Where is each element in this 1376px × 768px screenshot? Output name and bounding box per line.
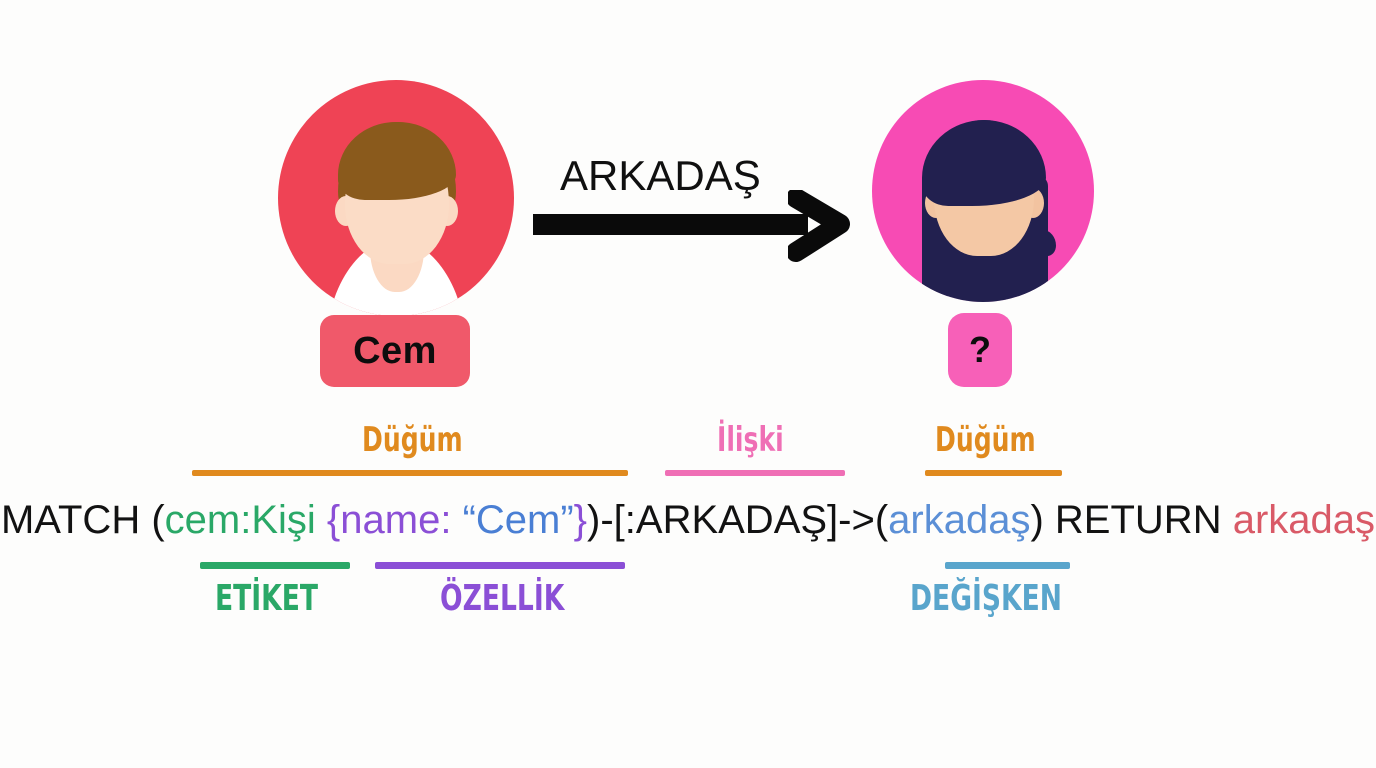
- query-part-match: MATCH (: [1, 498, 165, 542]
- annotation-underline-relationship: [665, 470, 845, 476]
- avatar-right-node: [872, 80, 1094, 302]
- query-part-variable: arkadaş: [888, 498, 1030, 542]
- avatar-left-illustration: [278, 80, 514, 316]
- relationship-arrow: [530, 190, 850, 250]
- diagram-canvas: Cem ? ARKADAŞ Düğüm İlişki Düğüm MATCH (…: [0, 0, 1376, 768]
- annotation-node-left: Düğüm: [362, 420, 463, 460]
- query-part-relationship: )-[:ARKADAŞ]->(: [587, 498, 888, 542]
- node-name-badge-cem: Cem: [320, 315, 470, 387]
- query-part-property-value: “Cem”: [463, 498, 574, 542]
- annotation-underline-node-right: [925, 470, 1062, 476]
- query-part-property-close: }: [574, 498, 587, 542]
- annotation-node-right: Düğüm: [935, 420, 1036, 460]
- query-part-label: cem:Kişi: [165, 498, 316, 542]
- node-name-badge-unknown: ?: [948, 313, 1012, 387]
- avatar-hair-front: [338, 122, 456, 200]
- annotation-underline-property: [375, 562, 625, 569]
- annotation-variable: DEĞİŞKEN: [910, 578, 1062, 619]
- annotation-relationship: İlişki: [717, 420, 784, 460]
- annotation-underline-node-left: [192, 470, 628, 476]
- annotation-underline-label: [200, 562, 350, 569]
- annotation-property: ÖZELLİK: [440, 578, 564, 619]
- query-part-return-keyword: ) RETURN: [1030, 498, 1232, 542]
- arrow-shaft: [533, 214, 808, 235]
- arrow-head-icon: [788, 190, 858, 262]
- cypher-query: MATCH (cem:Kişi {name: “Cem”})-[:ARKADAŞ…: [0, 498, 1376, 543]
- avatar-left-node: [278, 80, 514, 316]
- avatar-hair-flick: [1034, 230, 1056, 256]
- annotation-label: ETİKET: [215, 578, 318, 619]
- annotation-underline-variable: [945, 562, 1070, 569]
- query-part-space: [316, 498, 327, 542]
- avatar-hair-front: [922, 120, 1046, 206]
- query-part-return-variable: arkadaş: [1233, 498, 1375, 542]
- query-part-property-key: {name:: [327, 498, 463, 542]
- avatar-right-illustration: [872, 80, 1094, 302]
